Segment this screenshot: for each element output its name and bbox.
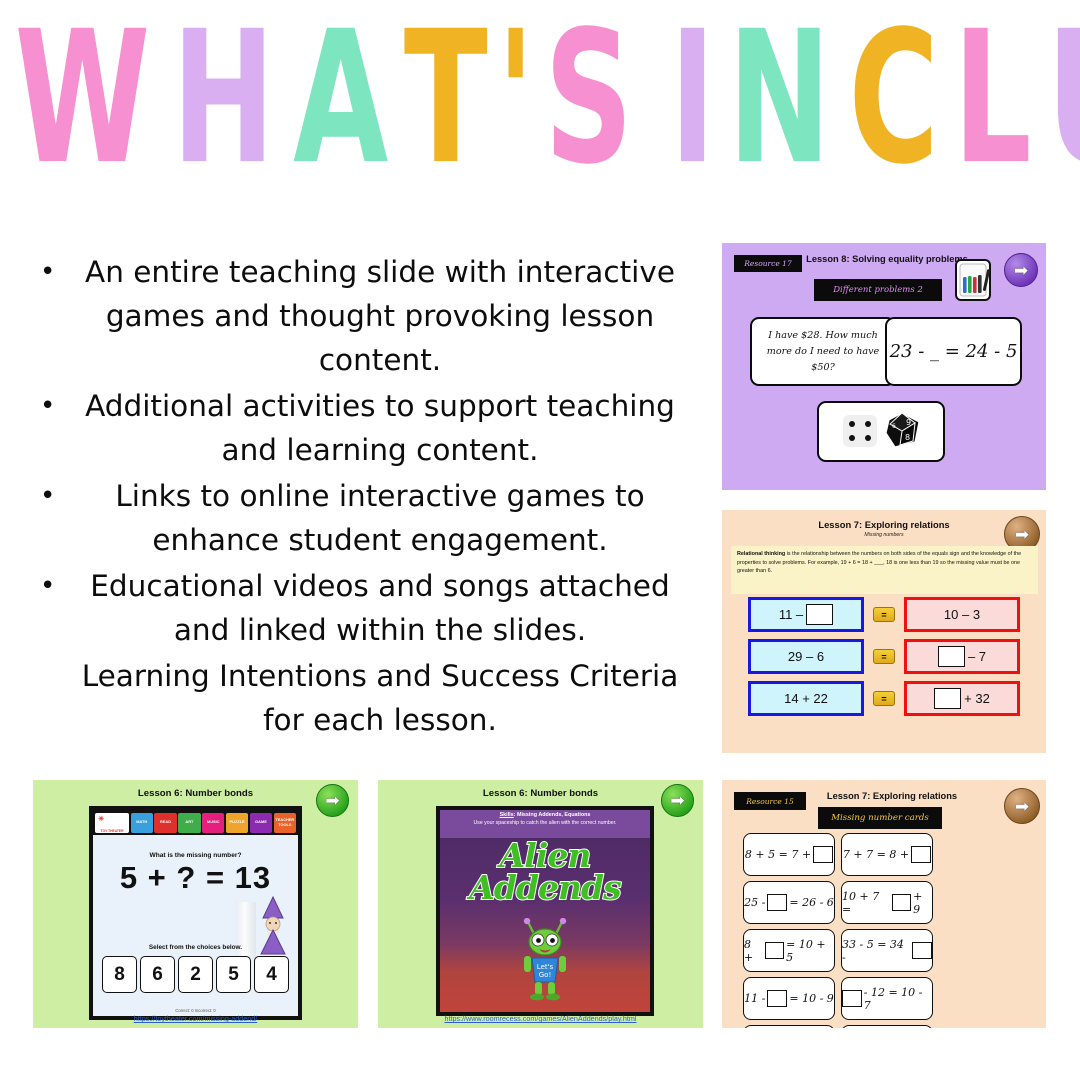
slide-lesson-title: Lesson 7: Exploring relations [722,519,1046,530]
number-card[interactable]: - 12 = 10 - 7 [841,977,933,1020]
next-slide-arrow-icon[interactable]: ➡ [1004,788,1040,824]
toytheater-tab-math[interactable]: MATH [131,813,153,833]
toytheater-nav-bar[interactable]: ☀ TOY THEATER MATHREADARTMUSICPUZZLEGAME… [93,810,298,835]
skills-line: Skills: Missing Addends, Equations [440,812,650,818]
number-card[interactable]: 7 + 7 = 8 + [841,833,933,876]
bullet-dot-icon: • [40,384,55,428]
answer-choice-button[interactable]: 4 [254,956,289,993]
card-text: 8 + [744,938,763,964]
answer-choice-button[interactable]: 5 [216,956,251,993]
card-text: 11 - [744,992,765,1005]
black-polyhedral-die-icon: 9 8 6 [883,411,921,449]
select-prompt: Select from the choices below. [93,944,298,951]
feature-item: •Educational videos and songs attached a… [40,564,700,652]
score-display: Correct: 0 Incorrect: 0 [93,1008,298,1013]
title-letter-6 [642,5,663,194]
title-letter-2: A [293,5,385,194]
title-letter-5: S [545,5,630,194]
feature-item: •Additional activities to support teachi… [40,384,700,472]
number-card[interactable]: 18 + 8 = 38 - [841,1025,933,1028]
expr-text: 29 – 6 [788,649,824,664]
toytheater-tab-puzzle[interactable]: PUZZLE [226,813,248,833]
relation-row: 11 –=10 – 3 [722,596,1046,633]
svg-text:Go!: Go! [539,971,552,979]
card-text: 10 + 7 = [842,890,890,916]
slide-subtitle: Missing numbers [722,532,1046,538]
source-link[interactable]: https://toytheater.com/missing-addend/ [33,1014,358,1023]
feature-item: •Links to online interactive games to en… [40,474,700,562]
card-text: 8 + 5 = 7 + [745,848,811,861]
number-card[interactable]: 25 -= 26 - 6 [743,881,835,924]
blank-answer-box[interactable] [938,646,965,667]
answer-choices[interactable]: 86254 [98,956,293,993]
relation-row: 14 + 22=+ 32 [722,680,1046,717]
feature-item: Learning Intentions and Success Criteria… [40,654,700,742]
page-title: WHAT'S INCLUDED [0,22,1080,177]
toytheater-logo-label: TOY THEATER [101,829,124,833]
dice-card: 9 8 6 [817,401,945,462]
card-text: 33 - 5 = 34 - [842,938,910,964]
title-letter-9: C [848,5,935,194]
alien-character-icon: Let's Go! [514,918,576,1002]
equation-display: 5 + ? = 13 [93,860,298,896]
arrow-right-glyph: ➡ [325,792,339,809]
next-slide-arrow-icon[interactable]: ➡ [316,784,349,817]
svg-text:8: 8 [905,433,910,442]
answer-choice-button[interactable]: 6 [140,956,175,993]
arrow-right-glyph: ➡ [1015,798,1029,815]
card-text: - 12 = 10 - 7 [864,986,932,1012]
next-slide-arrow-icon[interactable]: ➡ [661,784,694,817]
logo-dots-icon: ☀ [98,815,104,823]
relation-left-expression[interactable]: 11 – [748,597,864,632]
feature-text: Links to online interactive games to enh… [40,474,700,562]
toytheater-tab-teacher-tools[interactable]: TEACHER TOOLS [274,813,296,833]
slide-lesson-title: Lesson 6: Number bonds [378,788,703,799]
number-card[interactable]: 8 += 10 + 5 [743,929,835,972]
card-text: = 26 - 6 [789,896,833,909]
resource-tag-label: Resource 15 [746,797,793,806]
title-letter-11: U [1047,5,1080,194]
blank-answer-box[interactable] [765,942,784,959]
title-letter-1: H [172,5,272,194]
answer-choice-button[interactable]: 8 [102,956,137,993]
relation-left-expression[interactable]: 14 + 22 [748,681,864,716]
card-text: = 10 - 9 [789,992,833,1005]
slide-lesson-title: Lesson 6: Number bonds [33,788,358,799]
blank-answer-box[interactable] [934,688,961,709]
equals-badge-icon: = [873,691,895,706]
slide-thumbnail-alien-addends-game[interactable]: Lesson 6: Number bonds ➡ Skills: Missing… [378,780,703,1028]
blank-answer-box[interactable] [806,604,833,625]
slide-banner-label: Different problems 2 [833,285,923,295]
alien-addends-screenshot: Skills: Missing Addends, Equations Use y… [436,806,654,1016]
white-die-icon [843,415,877,447]
arrow-right-glyph: ➡ [670,792,684,809]
game-header: Skills: Missing Addends, Equations Use y… [440,810,650,838]
slide-banner: Different problems 2 [814,279,942,301]
number-card[interactable]: 11 -= 10 - 9 [743,977,835,1020]
slide-thumbnail-exploring-relations[interactable]: Lesson 7: Exploring relations Missing nu… [722,510,1046,753]
feature-item: •An entire teaching slide with interacti… [40,250,700,382]
toytheater-logo[interactable]: ☀ TOY THEATER [95,813,129,833]
slide-banner-label: Missing number cards [831,813,929,823]
relation-rows: 11 –=10 – 329 – 6=– 714 + 22=+ 32 [722,596,1046,722]
toytheater-tab-music[interactable]: MUSIC [202,813,224,833]
relation-row: 29 – 6=– 7 [722,638,1046,675]
bullet-dot-icon: • [40,250,55,294]
bullet-dot-icon: • [40,474,55,518]
equals-badge-icon: = [873,649,895,664]
equals-badge-icon: = [873,607,895,622]
slide-banner: Missing number cards [818,807,942,829]
blank-answer-box[interactable] [842,990,862,1007]
arrow-right-glyph: ➡ [1015,526,1029,543]
word-problem-card: I have $28. How much more do I need to h… [750,317,896,386]
skills-value: : Missing Addends, Equations [514,812,591,818]
feature-text: An entire teaching slide with interactiv… [40,250,700,382]
title-letter-8: N [728,5,828,194]
toytheater-tab-art[interactable]: ART [178,813,200,833]
number-card[interactable]: 33 - 5 = 34 - [841,929,933,972]
slide-thumbnail-missing-number-cards[interactable]: Resource 15 Lesson 7: Exploring relation… [722,780,1046,1028]
expr-text: 11 – [779,607,803,622]
toytheater-tab-game[interactable]: GAME [250,813,272,833]
feature-text: Educational videos and songs attached an… [40,564,700,652]
next-slide-arrow-icon[interactable]: ➡ [1004,253,1038,287]
game-title-logo: Alien Addends [440,840,650,904]
features-list: •An entire teaching slide with interacti… [40,250,700,744]
relation-right-expression[interactable]: + 32 [904,681,1020,716]
expr-text: 10 – 3 [944,607,980,622]
source-link[interactable]: https://www.roomrecess.com/games/AlienAd… [378,1014,703,1023]
title-letter-0: W [15,5,147,194]
slide-lesson-title: Lesson 7: Exploring relations [792,791,992,801]
explanation-paragraph: Relational thinking is the relationship … [731,546,1038,594]
toytheater-screenshot: ☀ TOY THEATER MATHREADARTMUSICPUZZLEGAME… [89,806,302,1020]
arrow-right-glyph: ➡ [1014,262,1028,279]
blank-answer-box[interactable] [767,990,787,1007]
game-title-line-2: Addends [440,872,650,904]
relation-right-expression[interactable]: – 7 [904,639,1020,674]
blank-answer-box[interactable] [813,846,833,863]
title-letter-7: I [670,5,712,194]
game-instruction: Use your spaceship to catch the alien wi… [440,820,650,826]
slide-thumbnail-equality-problems[interactable]: Resource 17 Lesson 8: Solving equality p… [722,243,1046,490]
question-text: What is the missing number? [93,852,298,859]
expr-text: – 7 [968,649,986,664]
number-card[interactable]: - 2 = 33 - 3 [743,1025,835,1028]
skills-label: Skills [500,812,514,818]
relation-right-expression[interactable]: 10 – 3 [904,597,1020,632]
blank-answer-box[interactable] [767,894,787,911]
svg-text:9: 9 [906,418,911,427]
expr-text: + 32 [964,691,990,706]
card-text: 7 + 7 = 8 + [843,848,909,861]
blank-answer-box[interactable] [892,894,911,911]
toytheater-tab-read[interactable]: READ [154,813,176,833]
feature-text: Learning Intentions and Success Criteria… [40,654,700,742]
paragraph-bold-term: Relational thinking [737,551,785,557]
resource-tag-label: Resource 17 [744,259,791,268]
number-cards-grid: 8 + 5 = 7 +7 + 7 = 8 +25 -= 26 - 610 + 7… [743,833,1027,1028]
card-text: = 10 + 5 [786,938,834,964]
number-card[interactable]: 8 + 5 = 7 + [743,833,835,876]
bullet-dot-icon: • [40,564,55,608]
title-letter-3: T [404,5,485,194]
svg-text:Let's: Let's [537,963,554,971]
relation-left-expression[interactable]: 29 – 6 [748,639,864,674]
blank-answer-box[interactable] [911,846,931,863]
feature-text: Additional activities to support teachin… [40,384,700,472]
title-letter-4: ' [497,5,531,194]
answer-choice-button[interactable]: 2 [178,956,213,993]
whiteboard-icon [954,257,998,303]
expr-text: 14 + 22 [784,691,828,706]
slide-thumbnail-toytheater-game[interactable]: Lesson 6: Number bonds ➡ ☀ TOY THEATER M… [33,780,358,1028]
number-card[interactable]: 10 + 7 =+ 9 [841,881,933,924]
blank-answer-box[interactable] [912,942,932,959]
card-text: + 9 [913,890,932,916]
title-letter-10: L [953,5,1028,194]
card-text: 25 - [744,896,765,909]
svg-text:6: 6 [892,423,896,430]
equation-card: 23 - _ = 24 - 5 [885,317,1022,386]
